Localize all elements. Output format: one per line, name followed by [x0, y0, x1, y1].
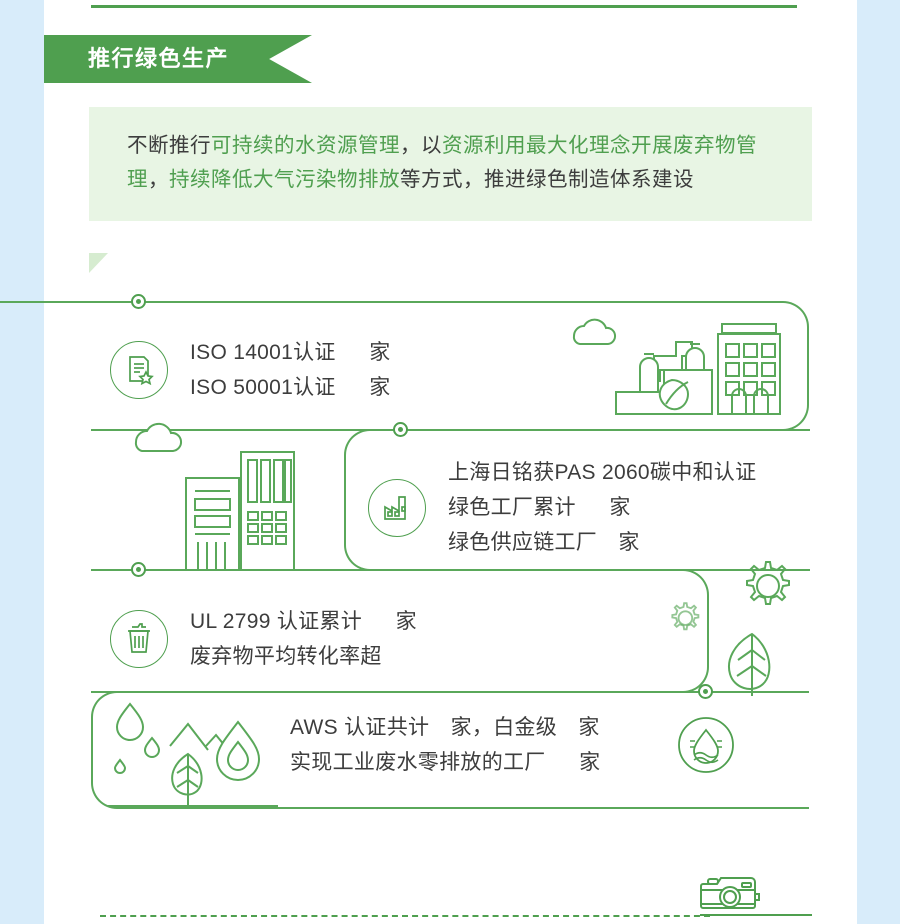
row-line: 上海日铭获PAS 2060碳中和认证 [448, 455, 756, 490]
aws-water-badge-icon [676, 715, 736, 775]
row-body-pas2060: 上海日铭获PAS 2060碳中和认证 绿色工厂累计 家 绿色供应链工厂 家 [368, 455, 756, 560]
row-line: ISO 50001认证 家 [190, 370, 391, 405]
row-line: ISO 14001认证 家 [190, 335, 391, 370]
infographic-page: 推行绿色生产 不断推行可持续的水资源管理，以资源利用最大化理念开展废弃物管理，持… [0, 0, 900, 924]
row-line: 绿色供应链工厂 家 [448, 525, 756, 560]
row-body-aws: AWS 认证共计 家，白金级 家 实现工业废水零排放的工厂 家 [290, 710, 600, 780]
waste-bin-icon [110, 610, 168, 668]
water-drops-illustration [108, 698, 278, 810]
factory-illustration [556, 312, 806, 434]
row-line: 实现工业废水零排放的工厂 家 [290, 745, 600, 780]
row-text-pas2060: 上海日铭获PAS 2060碳中和认证 绿色工厂累计 家 绿色供应链工厂 家 [448, 455, 756, 560]
row-body-ul2799: UL 2799 认证累计 家 废弃物平均转化率超 [110, 604, 417, 674]
row-text-ul2799: UL 2799 认证累计 家 废弃物平均转化率超 [190, 604, 417, 674]
row-line: 绿色工厂累计 家 [448, 490, 756, 525]
row-line: 废弃物平均转化率超 [190, 639, 417, 674]
row-body-iso: ISO 14001认证 家 ISO 50001认证 家 [110, 335, 391, 405]
row-line: UL 2799 认证累计 家 [190, 604, 417, 639]
timeline-dot-2 [393, 422, 408, 437]
row-text-aws: AWS 认证共计 家，白金级 家 实现工业废水零排放的工厂 家 [290, 710, 600, 780]
row-text-iso: ISO 14001认证 家 ISO 50001认证 家 [190, 335, 391, 405]
row1-left-extension [0, 301, 91, 303]
footer-dashed-line [100, 915, 710, 917]
row-line: AWS 认证共计 家，白金级 家 [290, 710, 600, 745]
camera-icon [700, 872, 774, 916]
gears-and-leaf-illustration [668, 554, 818, 699]
certificate-icon [110, 341, 168, 399]
footer-solid-line [700, 914, 812, 916]
city-buildings-illustration [128, 420, 343, 580]
green-factory-icon [368, 479, 426, 537]
timeline-dot-1 [131, 294, 146, 309]
